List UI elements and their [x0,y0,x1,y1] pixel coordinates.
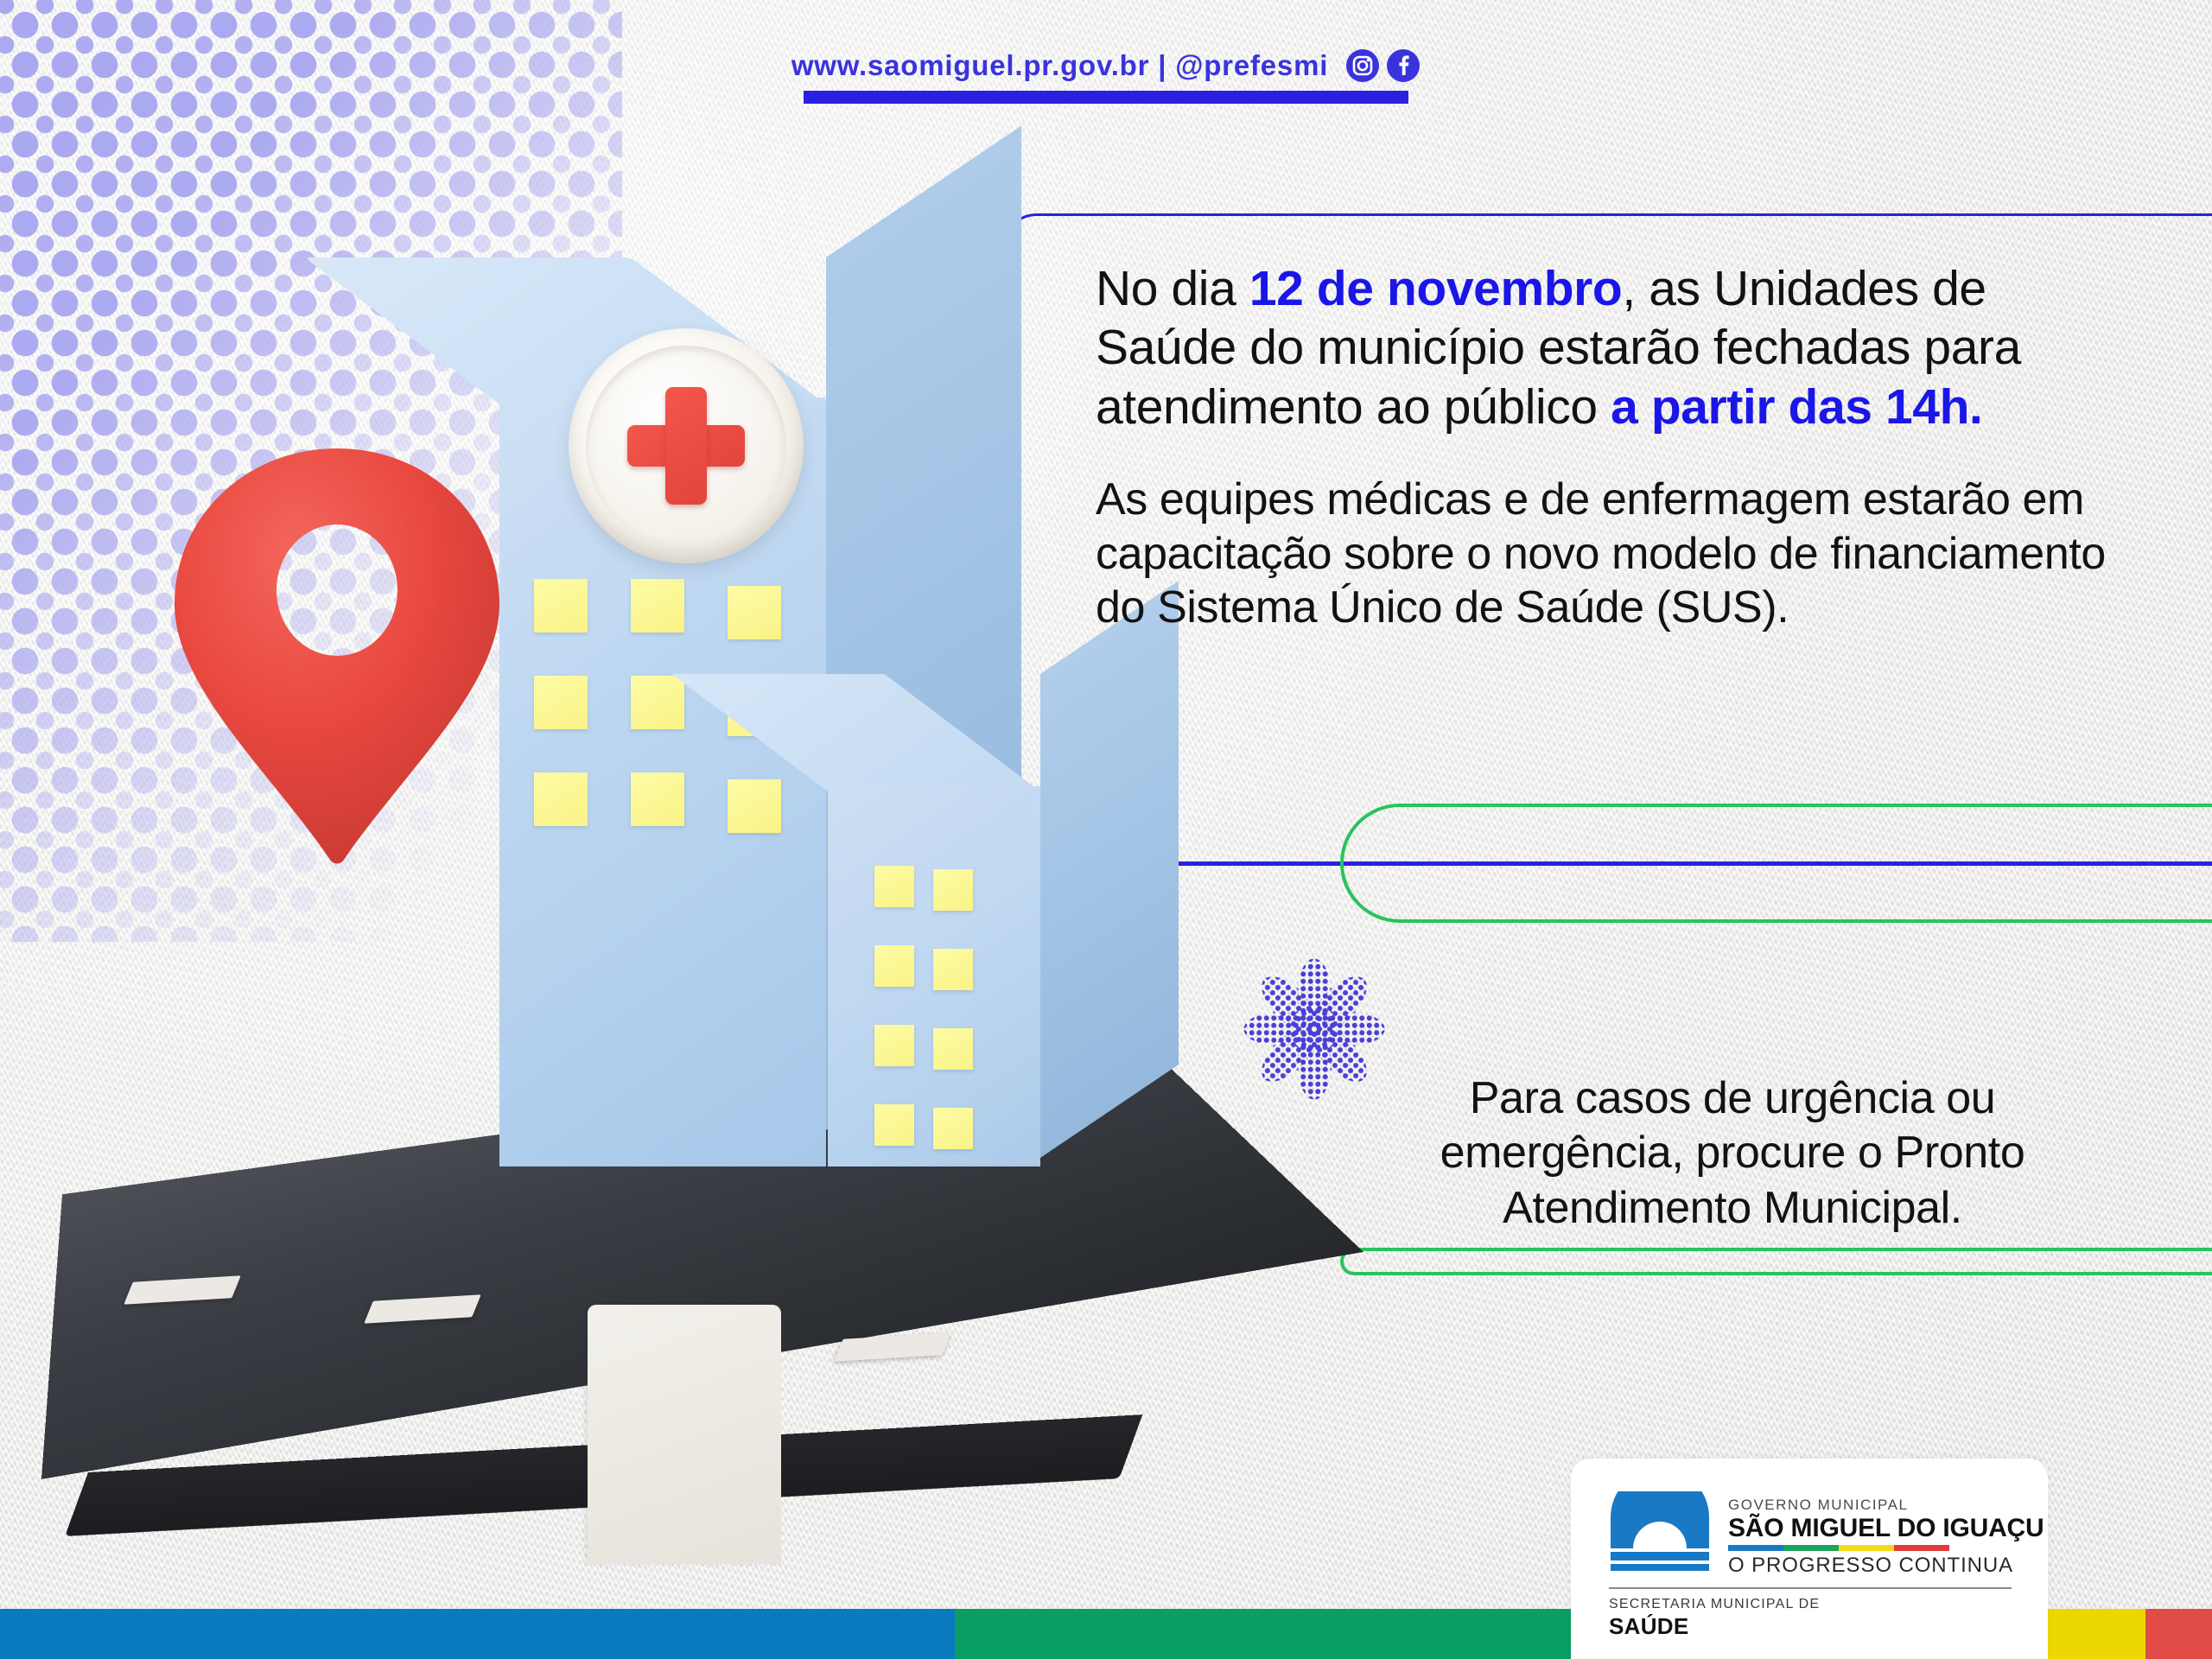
gear-emblem-icon [1609,1491,1711,1579]
red-cross-icon [627,387,745,505]
logo-dept-name: SAÚDE [1609,1613,2048,1640]
green-pill-upper [1340,804,2212,923]
window [631,579,684,632]
site-header: www.saomiguel.pr.gov.br | @prefesmi [0,48,2212,104]
hospital-entrance-door [588,1305,781,1564]
government-logo-card: GOVERNO MUNICIPAL SÃO MIGUEL DO IGUAÇU O… [1571,1459,2048,1659]
window [728,586,781,639]
map-pin-marker [164,445,510,868]
window [631,676,684,729]
window [933,1028,973,1070]
logo-dept-label: SECRETARIA MUNICIPAL DE [1609,1597,2048,1612]
window [874,945,914,987]
bar-segment-red [2145,1609,2212,1659]
window [933,949,973,990]
wing-building-front [828,786,1040,1166]
window [631,772,684,826]
window [874,866,914,907]
social-icons [1345,48,1421,83]
window [933,1108,973,1149]
window [874,1104,914,1146]
highlight-date: 12 de novembro [1249,261,1623,316]
logo-city-name: SÃO MIGUEL DO IGUAÇU [1728,1515,2044,1542]
window [534,676,588,729]
paragraph-primary: No dia 12 de novembro, as Unidades de Sa… [1096,259,2115,436]
window [534,579,588,632]
medical-cross-badge [569,328,804,563]
website-handle-text: www.saomiguel.pr.gov.br | @prefesmi [791,49,1328,82]
logo-gov-label: GOVERNO MUNICIPAL [1728,1497,2044,1514]
urgency-notice-text: Para casos de urgência ou emergência, pr… [1348,1071,2117,1236]
logo-slogan: O PROGRESSO CONTINUA [1728,1554,2044,1578]
bar-segment-yellow [2048,1609,2145,1659]
logo-color-bar [1728,1545,1949,1551]
wing-building-side [1040,581,1179,1158]
window [874,1025,914,1066]
bar-segment-green [955,1609,1571,1659]
window [933,869,973,911]
header-underline-rule [804,91,1408,104]
green-pill-lower [1340,1248,2212,1275]
announcement-text-block: No dia 12 de novembro, as Unidades de Sa… [1096,259,2115,634]
logo-divider [1609,1587,2012,1589]
paragraph-secondary: As equipes médicas e de enfermagem estar… [1096,473,2115,634]
facebook-icon[interactable] [1386,48,1421,83]
window [728,779,781,833]
instagram-icon[interactable] [1345,48,1380,83]
highlight-time: a partir das 14h. [1611,379,1982,435]
poster-canvas: www.saomiguel.pr.gov.br | @prefesmi [0,0,2212,1659]
window [534,772,588,826]
bar-segment-blue [0,1609,955,1659]
